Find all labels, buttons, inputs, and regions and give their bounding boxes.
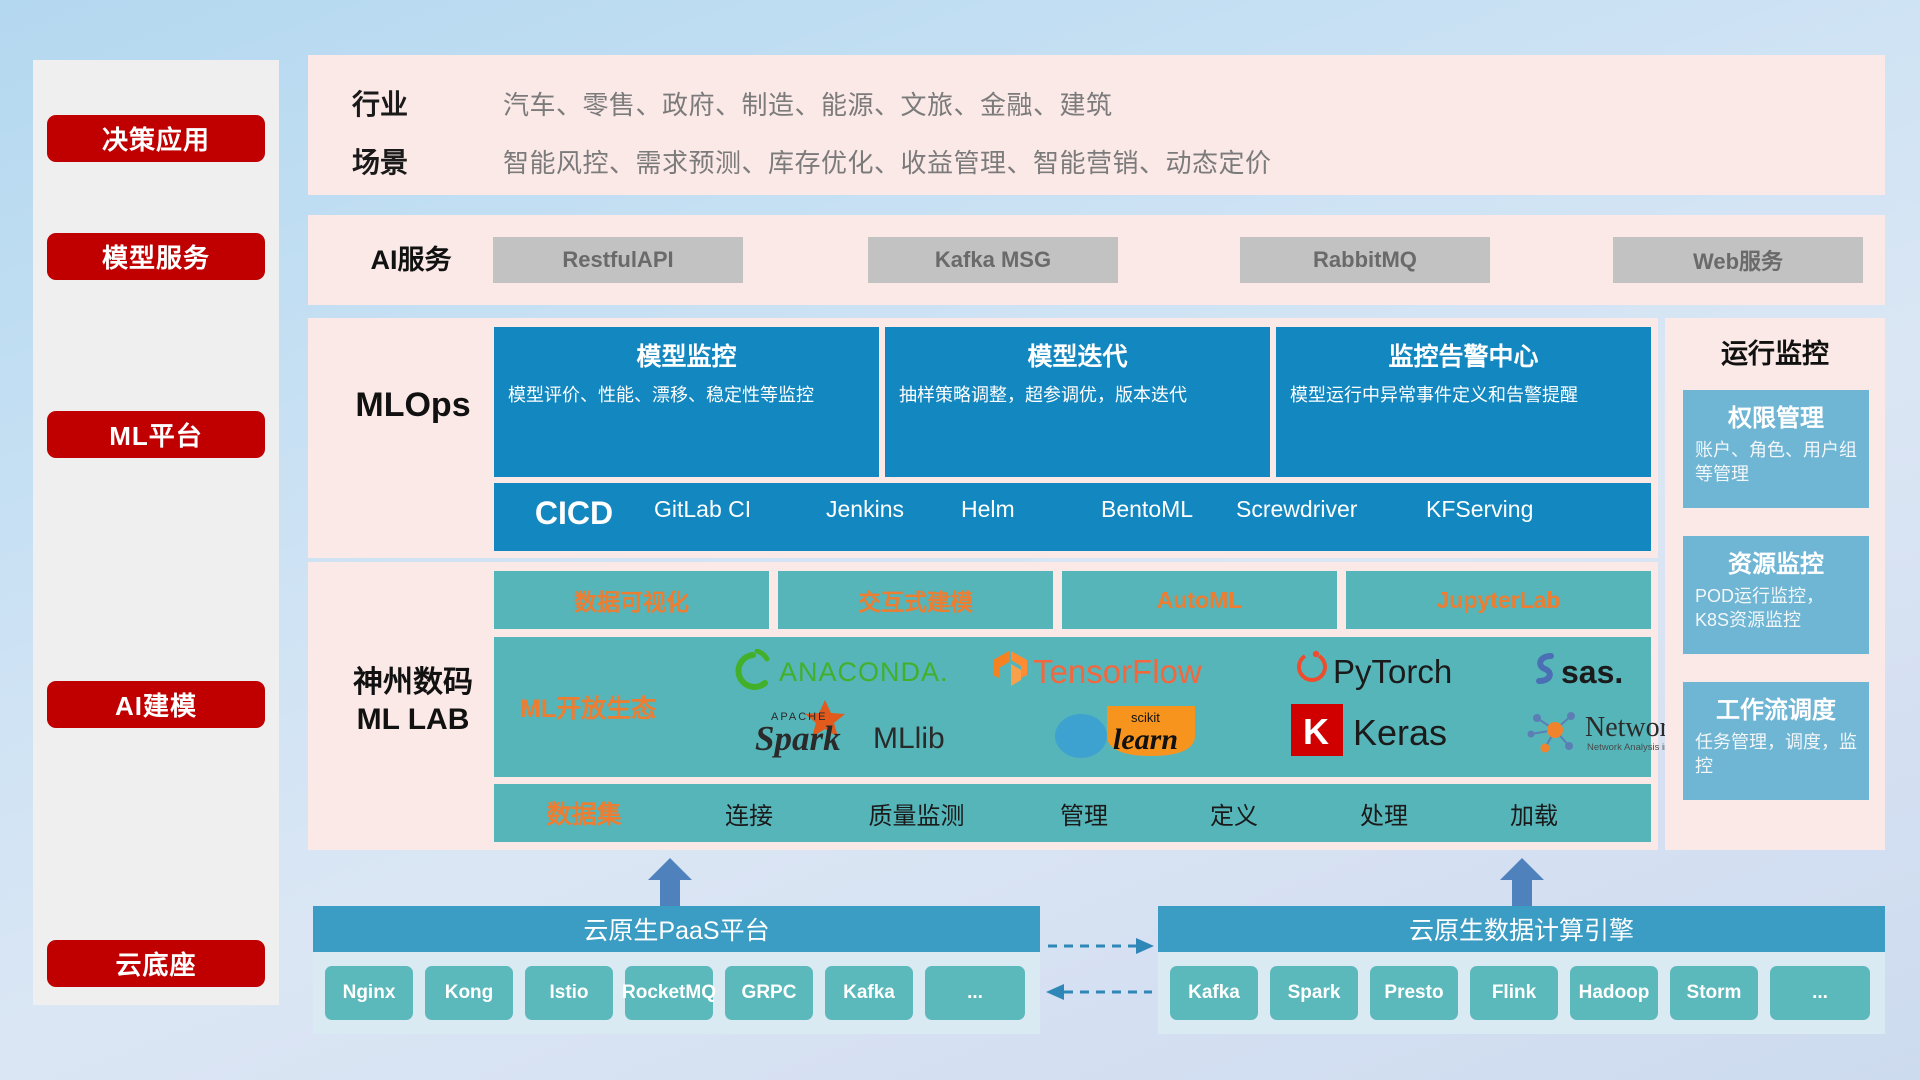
dataset-item-load[interactable]: 加载	[1459, 796, 1609, 831]
monitoring-panel: 运行监控 权限管理 账户、角色、用户组等管理 资源监控 POD运行监控，K8S资…	[1665, 318, 1885, 850]
ml-ecosystem-band: ML开放生态 ANACONDA. TensorFlow	[494, 637, 1651, 777]
up-arrow-right	[1500, 858, 1544, 906]
rail-item-model-service[interactable]: 模型服务	[47, 233, 265, 280]
card-desc: 模型运行中异常事件定义和告警提醒	[1290, 383, 1637, 407]
industry-value: 汽车、零售、政府、制造、能源、文旅、金融、建筑	[503, 85, 1113, 122]
paas-platform-body: Nginx Kong Istio RocketMQ GRPC Kafka ...	[313, 952, 1040, 1034]
data-engine-body: Kafka Spark Presto Flink Hadoop Storm ..…	[1158, 952, 1885, 1034]
ai-service-chip-kafka-msg[interactable]: Kafka MSG	[868, 237, 1118, 283]
svg-text:TensorFlow: TensorFlow	[1033, 653, 1202, 690]
svg-text:K: K	[1303, 711, 1329, 752]
monitoring-card-permission[interactable]: 权限管理 账户、角色、用户组等管理	[1683, 390, 1869, 508]
anaconda-logo: ANACONDA.	[726, 647, 976, 695]
ai-service-chip-web-service[interactable]: Web服务	[1613, 237, 1863, 283]
tool-chip-jupyterlab[interactable]: JupyterLab	[1346, 571, 1651, 629]
card-desc: 任务管理，调度，监控	[1695, 731, 1857, 779]
dataset-item-process[interactable]: 处理	[1309, 796, 1459, 831]
card-title: 监控告警中心	[1290, 337, 1637, 373]
cicd-item-gitlab-ci[interactable]: GitLab CI	[654, 483, 826, 523]
ml-lab-band: 神州数码 ML LAB 数据可视化 交互式建模 AutoML JupyterLa…	[308, 562, 1658, 850]
monitoring-card-resource[interactable]: 资源监控 POD运行监控，K8S资源监控	[1683, 536, 1869, 654]
tensorflow-logo: TensorFlow	[984, 645, 1274, 695]
engine-pill-storm[interactable]: Storm	[1670, 966, 1758, 1020]
card-desc: 模型评价、性能、漂移、稳定性等监控	[508, 383, 865, 407]
engine-pill-more[interactable]: ...	[1770, 966, 1870, 1020]
card-title: 模型迭代	[899, 337, 1256, 373]
bidirectional-dashed-arrows	[1044, 930, 1156, 1008]
monitoring-title: 运行监控	[1665, 332, 1885, 371]
spark-mllib-logo: APACHE Spark MLlib	[744, 699, 1034, 761]
cicd-item-helm[interactable]: Helm	[961, 483, 1101, 523]
ml-lab-label: 神州数码 ML LAB	[318, 662, 508, 742]
tool-chip-automl[interactable]: AutoML	[1062, 571, 1337, 629]
engine-pill-hadoop[interactable]: Hadoop	[1570, 966, 1658, 1020]
left-rail: 决策应用 模型服务 ML平台 AI建模 云底座	[33, 60, 279, 1005]
cicd-item-jenkins[interactable]: Jenkins	[826, 483, 961, 523]
svg-text:learn: learn	[1113, 723, 1178, 756]
mlops-label: MLOps	[328, 376, 498, 436]
cicd-label: CICD	[494, 483, 654, 532]
dataset-item-connect[interactable]: 连接	[674, 796, 824, 831]
pytorch-logo: PyTorch	[1284, 645, 1534, 695]
engine-pill-spark[interactable]: Spark	[1270, 966, 1358, 1020]
svg-text:Spark: Spark	[755, 719, 841, 758]
paas-pill-kong[interactable]: Kong	[425, 966, 513, 1020]
ai-service-chip-restfulapi[interactable]: RestfulAPI	[493, 237, 743, 283]
paas-pill-grpc[interactable]: GRPC	[725, 966, 813, 1020]
card-desc: POD运行监控，K8S资源监控	[1695, 585, 1857, 633]
ai-service-label: AI服务	[336, 235, 486, 285]
mlops-card-model-monitoring[interactable]: 模型监控 模型评价、性能、漂移、稳定性等监控	[494, 327, 879, 477]
cicd-bar: CICD GitLab CI Jenkins Helm BentoML Scre…	[494, 483, 1651, 551]
card-desc: 抽样策略调整，超参调优，版本迭代	[899, 383, 1256, 407]
dataset-label: 数据集	[494, 795, 674, 831]
scene-value: 智能风控、需求预测、库存优化、收益管理、智能营销、动态定价	[503, 143, 1272, 180]
keras-logo: K Keras	[1284, 699, 1524, 761]
rail-item-decision-app[interactable]: 决策应用	[47, 115, 265, 162]
mlops-card-model-iteration[interactable]: 模型迭代 抽样策略调整，超参调优，版本迭代	[885, 327, 1270, 477]
ai-service-band: AI服务 RestfulAPI Kafka MSG RabbitMQ Web服务	[308, 215, 1885, 305]
decision-application-band: 行业 汽车、零售、政府、制造、能源、文旅、金融、建筑 场景 智能风控、需求预测、…	[308, 55, 1885, 195]
paas-pill-istio[interactable]: Istio	[525, 966, 613, 1020]
tool-chip-data-visualization[interactable]: 数据可视化	[494, 571, 769, 629]
cicd-item-kfserving[interactable]: KFServing	[1426, 483, 1596, 523]
dataset-item-define[interactable]: 定义	[1159, 796, 1309, 831]
rail-item-cloud-base[interactable]: 云底座	[47, 940, 265, 987]
rail-item-ml-platform[interactable]: ML平台	[47, 411, 265, 458]
mlops-card-alert-center[interactable]: 监控告警中心 模型运行中异常事件定义和告警提醒	[1276, 327, 1651, 477]
paas-pill-kafka[interactable]: Kafka	[825, 966, 913, 1020]
scikit-learn-logo: scikit learn	[1042, 699, 1272, 761]
svg-text:Keras: Keras	[1353, 712, 1447, 753]
ml-lab-label-line2: ML LAB	[357, 702, 470, 739]
data-engine-title: 云原生数据计算引擎	[1158, 906, 1885, 952]
dataset-item-manage[interactable]: 管理	[1009, 796, 1159, 831]
svg-text:sas.: sas.	[1561, 654, 1623, 690]
scene-label: 场景	[352, 141, 408, 181]
svg-text:ANACONDA.: ANACONDA.	[779, 657, 949, 687]
engine-pill-kafka[interactable]: Kafka	[1170, 966, 1258, 1020]
monitoring-card-workflow[interactable]: 工作流调度 任务管理，调度，监控	[1683, 682, 1869, 800]
engine-pill-presto[interactable]: Presto	[1370, 966, 1458, 1020]
paas-platform-title: 云原生PaaS平台	[313, 906, 1040, 952]
architecture-diagram: 决策应用 模型服务 ML平台 AI建模 云底座 行业 汽车、零售、政府、制造、能…	[0, 0, 1920, 1080]
card-title: 权限管理	[1695, 398, 1857, 433]
card-title: 工作流调度	[1695, 690, 1857, 725]
ai-service-chip-rabbitmq[interactable]: RabbitMQ	[1240, 237, 1490, 283]
dataset-bar: 数据集 连接 质量监测 管理 定义 处理 加载	[494, 784, 1651, 842]
engine-pill-flink[interactable]: Flink	[1470, 966, 1558, 1020]
svg-text:PyTorch: PyTorch	[1333, 653, 1452, 690]
svg-text:MLlib: MLlib	[873, 722, 945, 755]
card-desc: 账户、角色、用户组等管理	[1695, 439, 1857, 487]
card-title: 模型监控	[508, 337, 865, 373]
mlops-band: MLOps 模型监控 模型评价、性能、漂移、稳定性等监控 模型迭代 抽样策略调整…	[308, 318, 1658, 558]
industry-label: 行业	[352, 83, 408, 123]
cicd-item-bentoml[interactable]: BentoML	[1101, 483, 1236, 523]
up-arrow-left	[648, 858, 692, 906]
card-title: 资源监控	[1695, 544, 1857, 579]
paas-pill-nginx[interactable]: Nginx	[325, 966, 413, 1020]
dataset-item-quality[interactable]: 质量监测	[824, 796, 1009, 831]
ml-lab-label-line1: 神州数码	[353, 665, 473, 702]
paas-pill-rocketmq[interactable]: RocketMQ	[625, 966, 713, 1020]
cicd-item-screwdriver[interactable]: Screwdriver	[1236, 483, 1426, 523]
paas-pill-more[interactable]: ...	[925, 966, 1025, 1020]
tool-chip-interactive-modeling[interactable]: 交互式建模	[778, 571, 1053, 629]
rail-item-ai-modeling[interactable]: AI建模	[47, 681, 265, 728]
ml-ecosystem-label: ML开放生态	[520, 689, 656, 725]
